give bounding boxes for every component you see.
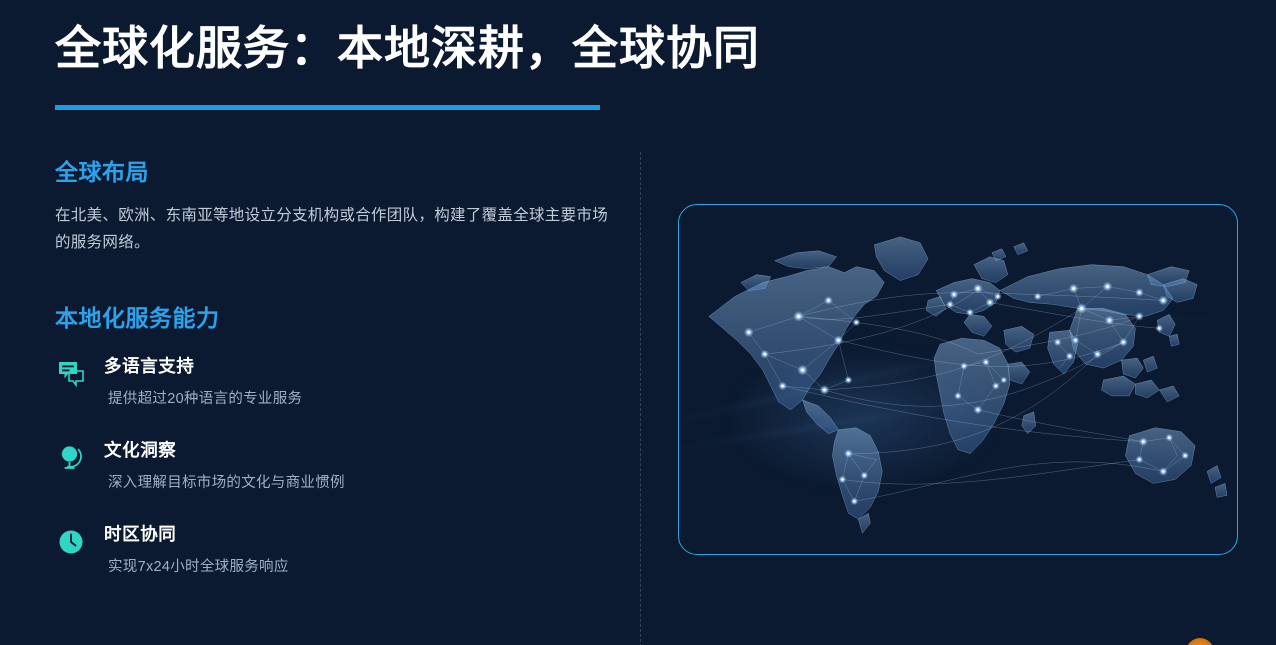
- section-spacer: [55, 256, 615, 304]
- world-map-svg: [679, 205, 1237, 554]
- feature-title: 时区协同: [104, 524, 615, 545]
- feature-description: 提供超过20种语言的专业服务: [108, 390, 615, 409]
- left-column: 全球布局 在北美、欧洲、东南亚等地设立分支机构或合作团队，构建了覆盖全球主要市场…: [55, 158, 615, 577]
- list-item: 多语言支持 提供超过20种语言的专业服务: [55, 356, 615, 409]
- section-heading-localization: 本地化服务能力: [55, 304, 615, 334]
- slide-root: 全球化服务：本地深耕，全球协同 全球布局 在北美、欧洲、东南亚等地设立分支机构或…: [0, 0, 1276, 645]
- feature-list: 多语言支持 提供超过20种语言的专业服务 文化洞察 深入理解目标市场: [55, 356, 615, 577]
- world-network-map-card: [678, 204, 1238, 555]
- feature-description: 深入理解目标市场的文化与商业惯例: [108, 474, 615, 493]
- map-inner: [679, 205, 1237, 554]
- page-title: 全球化服务：本地深耕，全球协同: [55, 22, 1215, 75]
- column-divider: [640, 152, 641, 645]
- chat-bubbles-icon: [55, 358, 87, 390]
- section-global-layout: 全球布局 在北美、欧洲、东南亚等地设立分支机构或合作团队，构建了覆盖全球主要市场…: [55, 158, 615, 256]
- clock-icon: [55, 526, 87, 558]
- corner-accent-shape: [1186, 638, 1214, 645]
- feature-title: 多语言支持: [104, 356, 615, 377]
- feature-description: 实现7x24小时全球服务响应: [108, 558, 615, 577]
- title-underline: [55, 105, 600, 110]
- slide-header: 全球化服务：本地深耕，全球协同: [55, 22, 1215, 75]
- list-item: 时区协同 实现7x24小时全球服务响应: [55, 524, 615, 577]
- section-heading-global-layout: 全球布局: [55, 158, 615, 188]
- section-localization: 本地化服务能力 多语言支持 提供超过20种语言的专业服务: [55, 304, 615, 576]
- section-body-global-layout: 在北美、欧洲、东南亚等地设立分支机构或合作团队，构建了覆盖全球主要市场的服务网络…: [55, 202, 615, 256]
- list-item: 文化洞察 深入理解目标市场的文化与商业惯例: [55, 440, 615, 493]
- feature-title: 文化洞察: [104, 440, 615, 461]
- desk-globe-icon: [55, 442, 87, 474]
